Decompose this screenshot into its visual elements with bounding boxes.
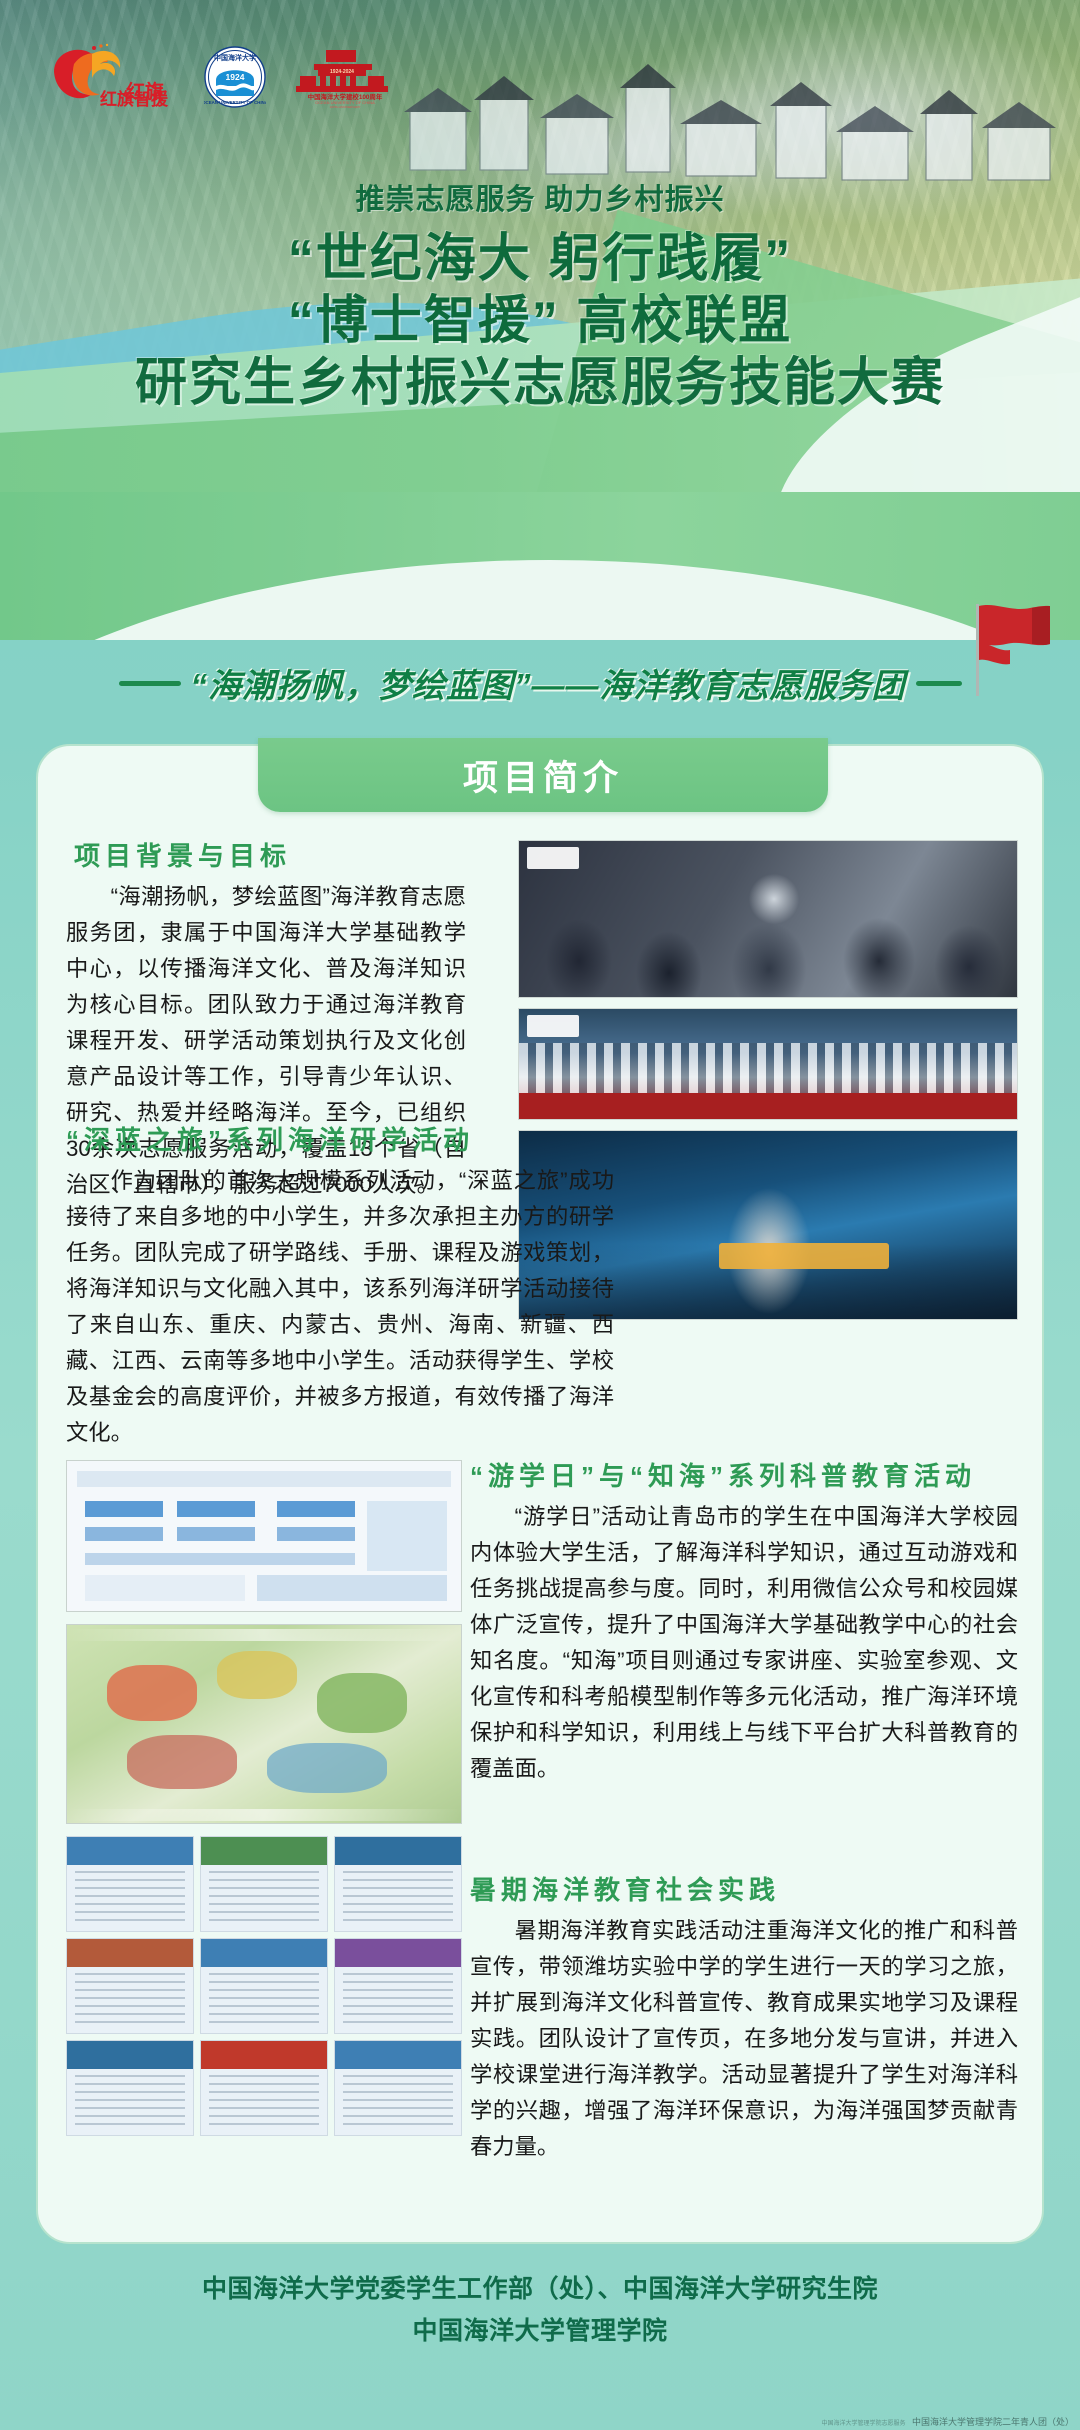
section-heading-4: 暑期海洋教育社会实践 (470, 1870, 1018, 1907)
svg-text:100TH ANNIVERSARY: 100TH ANNIVERSARY (329, 105, 360, 108)
gallery-item (200, 2040, 328, 2136)
screenshot-campus-map (66, 1624, 462, 1824)
diagram-node (85, 1527, 163, 1541)
gallery-item (66, 1938, 194, 2034)
gallery-item (66, 1836, 194, 1932)
logo-row: 红旗 红旗智援 1924 中国海洋大学 OCEAN UNIVERSITY OF … (40, 38, 400, 108)
diagram-thumb (367, 1501, 447, 1571)
section-body-2: 作为团队的首次大规模系列活动，“深蓝之旅”成功接待了来自多地的中小学生，并多次承… (66, 1163, 614, 1451)
diagram-note (257, 1575, 447, 1601)
ocean-university-seal: 1924 中国海洋大学 OCEAN UNIVERSITY OF CHINA (204, 46, 266, 108)
photo-watermark-chip (527, 847, 579, 869)
diagram-node (177, 1527, 255, 1541)
gallery-item (66, 2040, 194, 2136)
diagram-node (177, 1501, 255, 1517)
photo-group-banner (518, 1008, 1018, 1120)
gallery-item-text (75, 1871, 186, 1924)
photo-watermark-chip (527, 1015, 579, 1037)
diagram-title-bar (77, 1471, 451, 1487)
gallery-item-header (201, 1939, 327, 1967)
gallery-item-header (201, 2041, 327, 2069)
screenshot-activity-plan (66, 1460, 462, 1612)
section-summer-practice: 暑期海洋教育社会实践 暑期海洋教育实践活动注重海洋文化的推广和科普宣传，带领潍坊… (470, 1870, 1018, 2165)
subtitle-band-text: “海潮扬帆，梦绘蓝图”——海洋教育志愿服务团 (191, 659, 906, 707)
diagram-node (85, 1501, 163, 1517)
gallery-item-text (343, 2075, 454, 2128)
section-deep-blue-journey: “深蓝之旅”系列海洋研学活动 作为团队的首次大规模系列活动，“深蓝之旅”成功接待… (66, 1120, 614, 1451)
photo-students-specimen (518, 840, 1018, 998)
map-building (217, 1651, 297, 1699)
gallery-item (334, 1938, 462, 2034)
gallery-item-header (201, 1837, 327, 1865)
section-heading-1: 项目背景与目标 (74, 836, 466, 873)
svg-text:1924-2024: 1924-2024 (330, 69, 354, 75)
watermark: 中国海洋大学管理学院志愿服务 中国海洋大学管理学院二年青人团（处） (0, 2415, 1074, 2428)
section-heading-3: “游学日”与“知海”系列科普教育活动 (470, 1456, 1018, 1493)
footer-line-1: 中国海洋大学党委学生工作部（处）、中国海洋大学研究生院 (0, 2268, 1080, 2310)
gallery-item (200, 1938, 328, 2034)
map-legend-strip (67, 1809, 461, 1821)
gallery-item-text (209, 2075, 320, 2128)
section-heading-2: “深蓝之旅”系列海洋研学活动 (66, 1120, 614, 1157)
photo-people-overlay (519, 841, 1017, 997)
svg-text:中国海洋大学: 中国海洋大学 (214, 53, 256, 62)
diagram-node (277, 1501, 355, 1517)
svg-text:OCEAN UNIVERSITY OF CHINA: OCEAN UNIVERSITY OF CHINA (204, 100, 266, 105)
gallery-item-header (67, 1837, 193, 1865)
watermark-text: 中国海洋大学管理学院二年青人团（处） (912, 2417, 1074, 2427)
gallery-item-header (335, 2041, 461, 2069)
gallery-item-text (75, 1973, 186, 2026)
svg-text:1924: 1924 (226, 72, 245, 82)
gallery-item-header (335, 1939, 461, 1967)
footer: 中国海洋大学党委学生工作部（处）、中国海洋大学研究生院 中国海洋大学管理学院 (0, 2268, 1080, 2352)
watermark-prefix: 中国海洋大学管理学院志愿服务 (821, 2421, 905, 2427)
svg-text:红旗智援: 红旗智援 (100, 89, 169, 108)
graphics-column (66, 1460, 462, 2136)
photo-red-banner (519, 1093, 1017, 1119)
gallery-item-text (75, 2075, 186, 2128)
gallery-item-text (209, 1871, 320, 1924)
band-rule-right (916, 681, 962, 686)
band-rule-left (119, 681, 181, 686)
section-header-title: 项目简介 (463, 750, 623, 801)
gallery-item (334, 1836, 462, 1932)
gallery-item (334, 2040, 462, 2136)
photo-crowd-overlay (519, 1043, 1017, 1095)
gallery-item-text (343, 1973, 454, 2026)
map-greenspace (317, 1673, 407, 1733)
gallery-item (200, 1836, 328, 1932)
gallery-item-text (209, 1973, 320, 2026)
diagram-node (277, 1527, 355, 1541)
section-study-tour-knowsea: “游学日”与“知海”系列科普教育活动 “游学日”活动让青岛市的学生在中国海洋大学… (470, 1456, 1018, 1787)
photo-screen-caption (719, 1243, 889, 1269)
section-body-4: 暑期海洋教育实践活动注重海洋文化的推广和科普宣传，带领潍坊实验中学的学生进行一天… (470, 1913, 1018, 2165)
hero-title-line-3: 研究生乡村振兴志愿服务技能大赛 (0, 340, 1080, 415)
section-body-3: “游学日”活动让青岛市的学生在中国海洋大学校园内体验大学生活，了解海洋科学知识，… (470, 1499, 1018, 1787)
hero-kicker: 推崇志愿服务 助力乡村振兴 (0, 176, 1080, 218)
section-header: 项目简介 (258, 738, 828, 812)
gallery-item-header (67, 1939, 193, 1967)
subtitle-band: “海潮扬帆，梦绘蓝图”——海洋教育志愿服务团 (0, 648, 1080, 718)
screenshot-promo-gallery (66, 1836, 462, 2136)
diagram-node (85, 1553, 355, 1565)
diagram-note (85, 1575, 245, 1601)
map-building (107, 1665, 197, 1721)
footer-line-2: 中国海洋大学管理学院 (0, 2310, 1080, 2352)
gallery-item-text (343, 1871, 454, 1924)
red-flag-icon (970, 600, 1054, 696)
map-title-strip (67, 1629, 461, 1641)
hongqi-zhiyuan-logo: 红旗 红旗智援 (40, 38, 180, 108)
gallery-item-header (335, 1837, 461, 1865)
centenary-logo: 1924-2024 中国海洋大学建校100周年 OCEAN UNIVERSITY… (290, 46, 400, 108)
map-water (267, 1743, 387, 1793)
gallery-item-header (67, 2041, 193, 2069)
project-intro-card: 项目简介 项目背景与目标 “海潮扬帆，梦绘蓝图”海洋教育志愿服务团，隶属于中国海… (36, 744, 1044, 2244)
map-building (127, 1735, 237, 1789)
